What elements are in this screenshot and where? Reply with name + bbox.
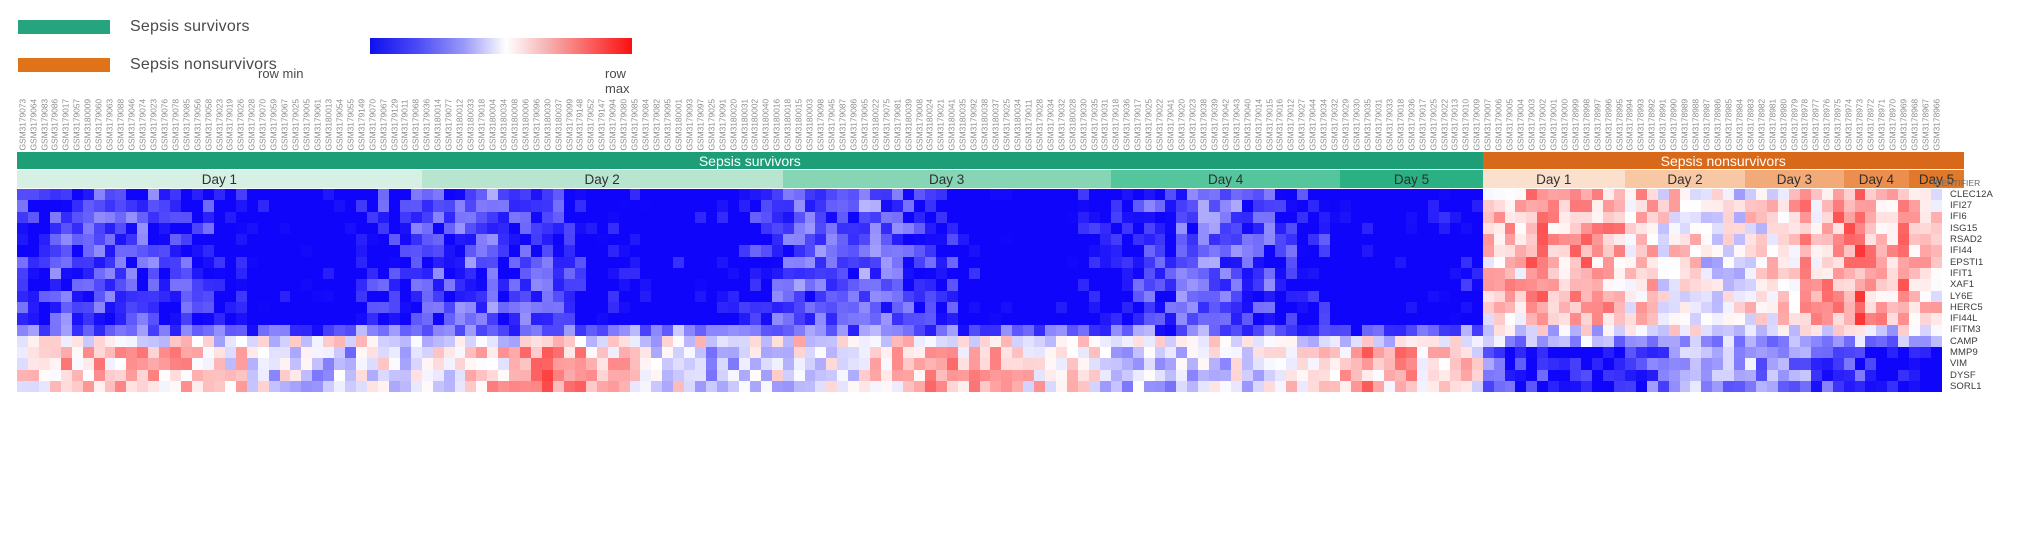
heatmap-cell — [1242, 302, 1253, 313]
heatmap-cell — [1559, 370, 1570, 381]
heatmap-cell — [1537, 234, 1548, 245]
heatmap-cell — [673, 302, 684, 313]
heatmap-cell — [1483, 313, 1494, 324]
heatmap-cell — [1865, 370, 1876, 381]
column-sample-label: GSM3180001 — [674, 99, 683, 150]
heatmap-cell — [50, 200, 61, 211]
heatmap-cell — [1680, 212, 1691, 223]
heatmap-cell — [411, 313, 422, 324]
heatmap-cell — [772, 381, 783, 392]
heatmap-cell — [389, 279, 400, 290]
heatmap-cell — [400, 313, 411, 324]
column-sample-label: GSM3179017 — [1134, 99, 1143, 150]
heatmap-cell — [214, 347, 225, 358]
heatmap-cell — [290, 358, 301, 369]
column-sample-label: GSM3180008 — [510, 99, 519, 150]
heatmap-cell — [1144, 370, 1155, 381]
heatmap-cell — [1898, 212, 1909, 223]
heatmap-cell — [487, 336, 498, 347]
heatmap-cell — [1012, 358, 1023, 369]
heatmap-cell — [1559, 381, 1570, 392]
heatmap-cell — [1789, 245, 1800, 256]
heatmap-cell — [1581, 279, 1592, 290]
heatmap-cell — [1111, 257, 1122, 268]
heatmap-cell — [159, 279, 170, 290]
column-sample-label: GSM3179149 — [357, 99, 366, 150]
heatmap-cell — [662, 234, 673, 245]
heatmap-cell — [1034, 223, 1045, 234]
heatmap-cell — [1526, 325, 1537, 336]
gene-row-label: HERC5 — [1946, 302, 2032, 313]
heatmap-cell — [323, 268, 334, 279]
heatmap-cell — [105, 381, 116, 392]
heatmap-cell — [783, 257, 794, 268]
heatmap-cell — [1876, 212, 1887, 223]
heatmap-cell — [706, 336, 717, 347]
heatmap-cell — [356, 370, 367, 381]
heatmap-cell — [1680, 257, 1691, 268]
heatmap-cell — [706, 291, 717, 302]
heatmap-cell — [1472, 189, 1483, 200]
heatmap-cell — [980, 325, 991, 336]
heatmap-cell — [1439, 313, 1450, 324]
heatmap-cell — [1636, 200, 1647, 211]
column-sample-label: GSM3178968 — [1910, 99, 1919, 150]
heatmap-cell — [1887, 358, 1898, 369]
heatmap-cell — [1887, 370, 1898, 381]
heatmap-cell — [1286, 370, 1297, 381]
heatmap-cell — [553, 358, 564, 369]
heatmap-cell — [1526, 245, 1537, 256]
heatmap-cell — [301, 347, 312, 358]
heatmap-cell — [1723, 234, 1734, 245]
heatmap-cell — [881, 234, 892, 245]
column-sample-label: GSM3179002 — [1538, 99, 1547, 150]
heatmap-cell — [783, 336, 794, 347]
heatmap-cell — [1023, 200, 1034, 211]
heatmap-cell — [980, 279, 991, 290]
heatmap-cell — [1822, 313, 1833, 324]
heatmap-cell — [378, 358, 389, 369]
heatmap-cell — [958, 313, 969, 324]
heatmap-cell — [586, 189, 597, 200]
heatmap-cell — [203, 302, 214, 313]
heatmap-cell — [575, 302, 586, 313]
heatmap-cell — [794, 268, 805, 279]
heatmap-cell — [575, 257, 586, 268]
heatmap-cell — [947, 234, 958, 245]
heatmap-cell — [1122, 234, 1133, 245]
heatmap-cell — [1723, 212, 1734, 223]
heatmap-cell — [1187, 370, 1198, 381]
heatmap-cell — [148, 234, 159, 245]
heatmap-cell — [422, 279, 433, 290]
heatmap-cell — [1570, 189, 1581, 200]
heatmap-cell — [1439, 245, 1450, 256]
heatmap-cell — [1089, 257, 1100, 268]
heatmap-cell — [1067, 370, 1078, 381]
heatmap-cell — [1067, 313, 1078, 324]
heatmap-cell — [1690, 302, 1701, 313]
heatmap-cell — [1494, 223, 1505, 234]
heatmap-cell — [236, 223, 247, 234]
heatmap-cell — [280, 358, 291, 369]
heatmap-cell — [586, 200, 597, 211]
heatmap-cell — [1461, 234, 1472, 245]
heatmap-cell — [28, 313, 39, 324]
heatmap-cell — [72, 291, 83, 302]
heatmap-cell — [1428, 381, 1439, 392]
heatmap-cell — [925, 336, 936, 347]
heatmap-cell — [1023, 347, 1034, 358]
heatmap-cell — [1330, 302, 1341, 313]
heatmap-cell — [115, 291, 126, 302]
heatmap-cell — [1548, 200, 1559, 211]
heatmap-cell — [83, 313, 94, 324]
heatmap-cell — [1001, 257, 1012, 268]
heatmap-cell — [1144, 336, 1155, 347]
heatmap-cell — [126, 200, 137, 211]
heatmap-cell — [990, 291, 1001, 302]
heatmap-cell — [1122, 370, 1133, 381]
heatmap-cell — [1461, 268, 1472, 279]
heatmap-cell — [1505, 200, 1516, 211]
heatmap-cell — [1811, 302, 1822, 313]
heatmap-cell — [1286, 291, 1297, 302]
heatmap-cell — [1701, 279, 1712, 290]
heatmap-cell — [72, 313, 83, 324]
heatmap-cell — [203, 381, 214, 392]
heatmap-cell — [1187, 200, 1198, 211]
heatmap-cell — [1231, 234, 1242, 245]
heatmap-cell — [192, 200, 203, 211]
heatmap-cell — [509, 234, 520, 245]
heatmap-cell — [783, 189, 794, 200]
heatmap-cell — [848, 234, 859, 245]
heatmap-cell — [772, 279, 783, 290]
heatmap-cell — [411, 325, 422, 336]
heatmap-cell — [137, 234, 148, 245]
heatmap-cell — [1275, 358, 1286, 369]
heatmap-cell — [848, 257, 859, 268]
heatmap-cell — [1155, 257, 1166, 268]
heatmap-cell — [837, 291, 848, 302]
heatmap-cell — [94, 234, 105, 245]
heatmap-cell — [651, 245, 662, 256]
heatmap-cell — [301, 279, 312, 290]
heatmap-cell — [1669, 257, 1680, 268]
heatmap-cell — [1417, 245, 1428, 256]
heatmap-cell — [1756, 381, 1767, 392]
heatmap-cell — [914, 245, 925, 256]
heatmap-cell — [564, 381, 575, 392]
heatmap-cell — [1680, 302, 1691, 313]
heatmap-cell — [1362, 302, 1373, 313]
heatmap-cell — [1220, 302, 1231, 313]
heatmap-cell — [640, 279, 651, 290]
heatmap-cell — [794, 200, 805, 211]
heatmap-cell — [1756, 212, 1767, 223]
heatmap-cell — [433, 381, 444, 392]
heatmap-cell — [389, 257, 400, 268]
heatmap-cell — [903, 291, 914, 302]
heatmap-cell — [72, 223, 83, 234]
heatmap-cell — [651, 336, 662, 347]
heatmap-cell — [531, 370, 542, 381]
heatmap-cell — [280, 200, 291, 211]
heatmap-cell — [39, 234, 50, 245]
heatmap-cell — [794, 257, 805, 268]
heatmap-cell — [203, 257, 214, 268]
heatmap-cell — [1472, 279, 1483, 290]
heatmap-cell — [1669, 268, 1680, 279]
heatmap-cell — [1439, 223, 1450, 234]
heatmap-cell — [1428, 313, 1439, 324]
heatmap-cell — [1144, 302, 1155, 313]
heatmap-cell — [422, 302, 433, 313]
heatmap-cell — [1231, 223, 1242, 234]
heatmap-cell — [1089, 189, 1100, 200]
heatmap-cell — [1428, 370, 1439, 381]
column-sample-label: GSM3180004 — [488, 99, 497, 150]
heatmap-cell — [837, 347, 848, 358]
heatmap-cell — [881, 336, 892, 347]
heatmap-cell — [1887, 336, 1898, 347]
heatmap-cell — [1089, 302, 1100, 313]
heatmap-cell — [1483, 279, 1494, 290]
heatmap-cell — [1122, 200, 1133, 211]
heatmap-cell — [17, 279, 28, 290]
column-sample-label: GSM3179084 — [642, 99, 651, 150]
heatmap-cell — [575, 358, 586, 369]
heatmap-cell — [1165, 279, 1176, 290]
heatmap-cell — [1384, 223, 1395, 234]
column-sample-label: GSM3179058 — [204, 99, 213, 150]
heatmap-cell — [1647, 212, 1658, 223]
heatmap-cell — [50, 245, 61, 256]
heatmap-cell — [564, 279, 575, 290]
heatmap-cell — [1570, 245, 1581, 256]
heatmap-cell — [1351, 347, 1362, 358]
heatmap-cell — [1811, 279, 1822, 290]
heatmap-cell — [1745, 291, 1756, 302]
heatmap-cell — [990, 381, 1001, 392]
heatmap-cell — [1483, 234, 1494, 245]
heatmap-cell — [936, 234, 947, 245]
heatmap-cell — [859, 313, 870, 324]
heatmap-cell — [859, 212, 870, 223]
column-sample-label: GSM3180031 — [740, 99, 749, 150]
heatmap-cell — [1187, 358, 1198, 369]
heatmap-cell — [914, 223, 925, 234]
heatmap-cell — [1406, 279, 1417, 290]
heatmap-cell — [1297, 370, 1308, 381]
heatmap-cell — [1690, 245, 1701, 256]
heatmap-cell — [1778, 370, 1789, 381]
heatmap-cell — [498, 189, 509, 200]
heatmap-cell — [1822, 189, 1833, 200]
heatmap-cell — [619, 302, 630, 313]
heatmap-cell — [1505, 279, 1516, 290]
heatmap-cell — [1701, 223, 1712, 234]
heatmap-cell — [269, 358, 280, 369]
heatmap-cell — [619, 279, 630, 290]
heatmap-cell — [859, 223, 870, 234]
heatmap-cell — [1144, 268, 1155, 279]
heatmap-cell — [870, 234, 881, 245]
heatmap-cell — [1384, 212, 1395, 223]
heatmap-cell — [1384, 347, 1395, 358]
heatmap-cell — [159, 358, 170, 369]
heatmap-cell — [870, 189, 881, 200]
heatmap-cell — [1373, 358, 1384, 369]
column-sample-label: GSM3179091 — [718, 99, 727, 150]
column-sample-label: GSM3178987 — [1703, 99, 1712, 150]
heatmap-cell — [487, 268, 498, 279]
heatmap-cell — [1297, 245, 1308, 256]
heatmap-cell — [444, 313, 455, 324]
heatmap-cell — [1286, 189, 1297, 200]
heatmap-cell — [444, 245, 455, 256]
heatmap-cell — [1133, 381, 1144, 392]
heatmap-cell — [498, 223, 509, 234]
heatmap-cell — [323, 358, 334, 369]
heatmap-cell — [1045, 200, 1056, 211]
heatmap-cell — [203, 370, 214, 381]
heatmap-cell — [1198, 325, 1209, 336]
heatmap-cell — [1909, 336, 1920, 347]
heatmap-cell — [1614, 347, 1625, 358]
heatmap-cell — [564, 358, 575, 369]
heatmap-cell — [619, 212, 630, 223]
heatmap-cell — [1931, 234, 1942, 245]
heatmap-cell — [837, 336, 848, 347]
heatmap-cell — [61, 212, 72, 223]
heatmap-cell — [105, 302, 116, 313]
heatmap-cell — [958, 200, 969, 211]
heatmap-cell — [1319, 302, 1330, 313]
heatmap-cell — [247, 358, 258, 369]
heatmap-cell — [389, 291, 400, 302]
heatmap-cell — [662, 212, 673, 223]
heatmap-cell — [586, 212, 597, 223]
column-sample-label: GSM3179000 — [1560, 99, 1569, 150]
heatmap-cell — [1340, 257, 1351, 268]
heatmap-cell — [1614, 336, 1625, 347]
heatmap-cell — [1680, 200, 1691, 211]
heatmap-cell — [1461, 212, 1472, 223]
heatmap-cell — [203, 268, 214, 279]
column-sample-label: GSM3179009 — [1473, 99, 1482, 150]
heatmap-cell — [1165, 189, 1176, 200]
heatmap-cell — [378, 234, 389, 245]
heatmap-cell — [1395, 234, 1406, 245]
heatmap-cell — [1023, 370, 1034, 381]
heatmap-cell — [859, 381, 870, 392]
heatmap-cell — [728, 223, 739, 234]
heatmap-cell — [1297, 223, 1308, 234]
heatmap-cell — [1680, 268, 1691, 279]
heatmap-cell — [564, 234, 575, 245]
heatmap-cell — [1548, 313, 1559, 324]
heatmap-cell — [400, 223, 411, 234]
heatmap-cell — [345, 313, 356, 324]
heatmap-cell — [640, 325, 651, 336]
heatmap-cell — [728, 189, 739, 200]
heatmap-cell — [684, 381, 695, 392]
heatmap-cell — [214, 268, 225, 279]
heatmap-cell — [1614, 302, 1625, 313]
heatmap-cell — [1734, 257, 1745, 268]
heatmap-cell — [1822, 212, 1833, 223]
heatmap-cell — [673, 223, 684, 234]
heatmap-cell — [1614, 189, 1625, 200]
heatmap-cell — [772, 212, 783, 223]
heatmap-cell — [750, 291, 761, 302]
heatmap-cell — [1570, 358, 1581, 369]
heatmap-cell — [1023, 234, 1034, 245]
heatmap-cell — [1603, 189, 1614, 200]
heatmap-cell — [848, 279, 859, 290]
heatmap-cell — [1264, 245, 1275, 256]
heatmap-cell — [192, 347, 203, 358]
heatmap-cell — [433, 370, 444, 381]
heatmap-cell — [1581, 189, 1592, 200]
heatmap-cell — [1931, 268, 1942, 279]
heatmap-cell — [619, 325, 630, 336]
heatmap-cell — [805, 200, 816, 211]
column-sample-label: GSM3178983 — [1746, 99, 1755, 150]
heatmap-cell — [1461, 257, 1472, 268]
heatmap-cell — [1045, 291, 1056, 302]
heatmap-cell — [1264, 347, 1275, 358]
heatmap-cell — [378, 370, 389, 381]
heatmap-cell — [640, 370, 651, 381]
heatmap-cell — [1603, 313, 1614, 324]
heatmap-cell — [564, 200, 575, 211]
heatmap-cell — [1253, 358, 1264, 369]
heatmap-cell — [50, 370, 61, 381]
heatmap-cell — [1176, 302, 1187, 313]
column-sample-label: GSM3179065 — [860, 99, 869, 150]
heatmap-cell — [1515, 268, 1526, 279]
heatmap-cell — [1144, 313, 1155, 324]
heatmap-cell — [181, 291, 192, 302]
heatmap-cell — [1362, 223, 1373, 234]
heatmap-cell — [837, 245, 848, 256]
heatmap-cell — [1275, 336, 1286, 347]
column-sample-label: GSM3178981 — [1768, 99, 1777, 150]
heatmap-cell — [323, 381, 334, 392]
heatmap-cell — [1483, 325, 1494, 336]
heatmap-cell — [1570, 279, 1581, 290]
heatmap-cell — [1592, 370, 1603, 381]
heatmap-cell — [695, 212, 706, 223]
heatmap-cell — [1625, 336, 1636, 347]
heatmap-cell — [301, 291, 312, 302]
heatmap-cell — [980, 245, 991, 256]
heatmap-cell — [815, 223, 826, 234]
heatmap-cell — [772, 268, 783, 279]
heatmap-cell — [1351, 302, 1362, 313]
heatmap-cell — [389, 381, 400, 392]
heatmap-cell — [225, 313, 236, 324]
heatmap-cell — [137, 279, 148, 290]
heatmap-cell — [1833, 302, 1844, 313]
heatmap-cell — [1505, 358, 1516, 369]
heatmap-cell — [455, 381, 466, 392]
heatmap-cell — [72, 302, 83, 313]
